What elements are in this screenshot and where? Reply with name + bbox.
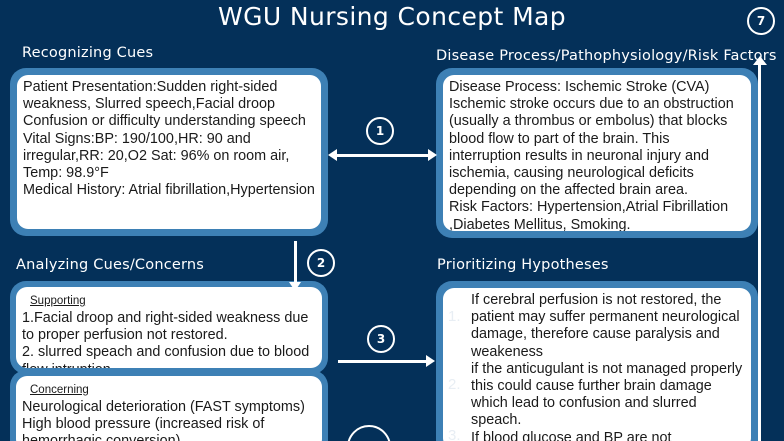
- card-recognizing-cues: Patient Presentation:Sudden right-sided …: [10, 68, 328, 236]
- step-badge-partial-bottom: [347, 425, 391, 441]
- concerning-label: Concerning: [30, 383, 89, 398]
- step-badge-7: 7: [747, 7, 775, 35]
- card-recognizing-cues-inner: Patient Presentation:Sudden right-sided …: [17, 75, 321, 229]
- connector-arrowhead-down-2: [289, 282, 301, 291]
- connector-arrowhead-right-3: [426, 355, 435, 367]
- step-badge-3: 3: [367, 325, 395, 353]
- hypothesis-number-2: 2.: [448, 376, 461, 393]
- card-disease-process: Disease Process: Ischemic Stroke (CVA) I…: [436, 68, 758, 238]
- hypothesis-number-3: 3.: [448, 427, 461, 441]
- supporting-label: Supporting: [30, 294, 86, 309]
- disease-process-text: Disease Process: Ischemic Stroke (CVA) I…: [449, 79, 745, 231]
- supporting-text: 1.Facial droop and right-sided weakness …: [22, 310, 316, 368]
- section-heading-prioritizing-hypotheses: Prioritizing Hypotheses: [437, 257, 609, 273]
- section-heading-disease-process: Disease Process/Pathophysiology/Risk Fac…: [436, 48, 777, 64]
- concerning-text: Neurological deterioration (FAST symptom…: [22, 399, 316, 441]
- card-concerning-inner: Concerning Neurological deterioration (F…: [16, 376, 322, 441]
- card-supporting: Supporting 1.Facial droop and right-side…: [10, 281, 328, 374]
- connector-line-2: [294, 241, 297, 285]
- connector-arrowhead-up-7: [753, 56, 767, 65]
- section-heading-analyzing-cues: Analyzing Cues/Concerns: [16, 257, 204, 273]
- hypothesis-number-1: 1.: [448, 308, 461, 325]
- page-title: WGU Nursing Concept Map: [0, 2, 784, 31]
- card-prioritizing-hypotheses-inner: 1. 2. 3. If cerebral perfusion is not re…: [443, 288, 751, 441]
- prioritizing-hypotheses-text: If cerebral perfusion is not restored, t…: [471, 292, 745, 441]
- step-badge-1: 1: [366, 117, 394, 145]
- connector-arrowhead-right-1: [428, 149, 437, 161]
- connector-line-7: [758, 62, 761, 441]
- card-supporting-inner: Supporting 1.Facial droop and right-side…: [16, 287, 322, 368]
- connector-arrowhead-left-1: [328, 149, 337, 161]
- card-prioritizing-hypotheses: 1. 2. 3. If cerebral perfusion is not re…: [436, 281, 758, 441]
- step-badge-2: 2: [307, 249, 335, 277]
- connector-line-1: [332, 154, 432, 157]
- connector-line-3: [338, 360, 430, 363]
- concept-map-slide: WGU Nursing Concept Map Recognizing Cues…: [0, 0, 784, 441]
- card-concerning: Concerning Neurological deterioration (F…: [10, 370, 328, 441]
- recognizing-cues-text: Patient Presentation:Sudden right-sided …: [23, 79, 315, 199]
- section-heading-recognizing-cues: Recognizing Cues: [22, 45, 153, 61]
- card-disease-process-inner: Disease Process: Ischemic Stroke (CVA) I…: [443, 75, 751, 231]
